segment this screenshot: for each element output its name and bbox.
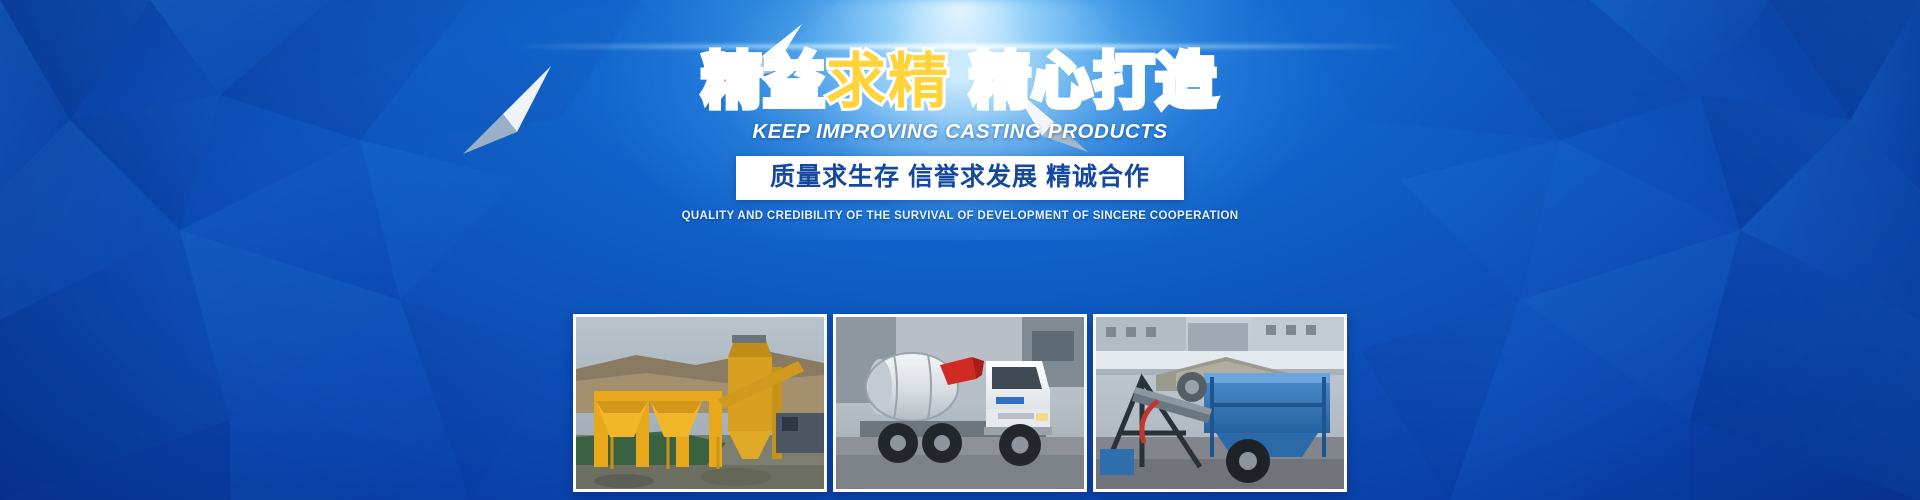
headline-segment-1: 精益: [702, 48, 826, 115]
photo-concrete-batching-plant[interactable]: [573, 314, 827, 492]
ribbon-wrap: 质量求生存 信誉求发展 精诚合作: [0, 156, 1920, 200]
photo-strip: [0, 314, 1920, 492]
headline-segment-3: 精心打造: [970, 48, 1218, 115]
headline-subtitle-en: KEEP IMPROVING CASTING PRODUCTS: [0, 120, 1920, 144]
photo-3-image: [1096, 317, 1344, 489]
photo-2-image: [836, 317, 1084, 489]
banner-text-block: 精益求精精心打造 KEEP IMPROVING CASTING PRODUCTS…: [0, 52, 1920, 222]
headline: 精益求精精心打造: [0, 52, 1920, 112]
light-streak: [510, 44, 1410, 49]
tagline-en: QUALITY AND CREDIBILITY OF THE SURVIVAL …: [0, 210, 1920, 222]
photo-industrial-mixing-equipment[interactable]: [1093, 314, 1347, 492]
photo-1-image: [576, 317, 824, 489]
slogan-ribbon: 质量求生存 信誉求发展 精诚合作: [736, 156, 1184, 200]
promo-banner: 精益求精精心打造 KEEP IMPROVING CASTING PRODUCTS…: [0, 0, 1920, 500]
headline-segment-2: 求精: [826, 48, 950, 115]
photo-concrete-mixer-truck[interactable]: [833, 314, 1087, 492]
